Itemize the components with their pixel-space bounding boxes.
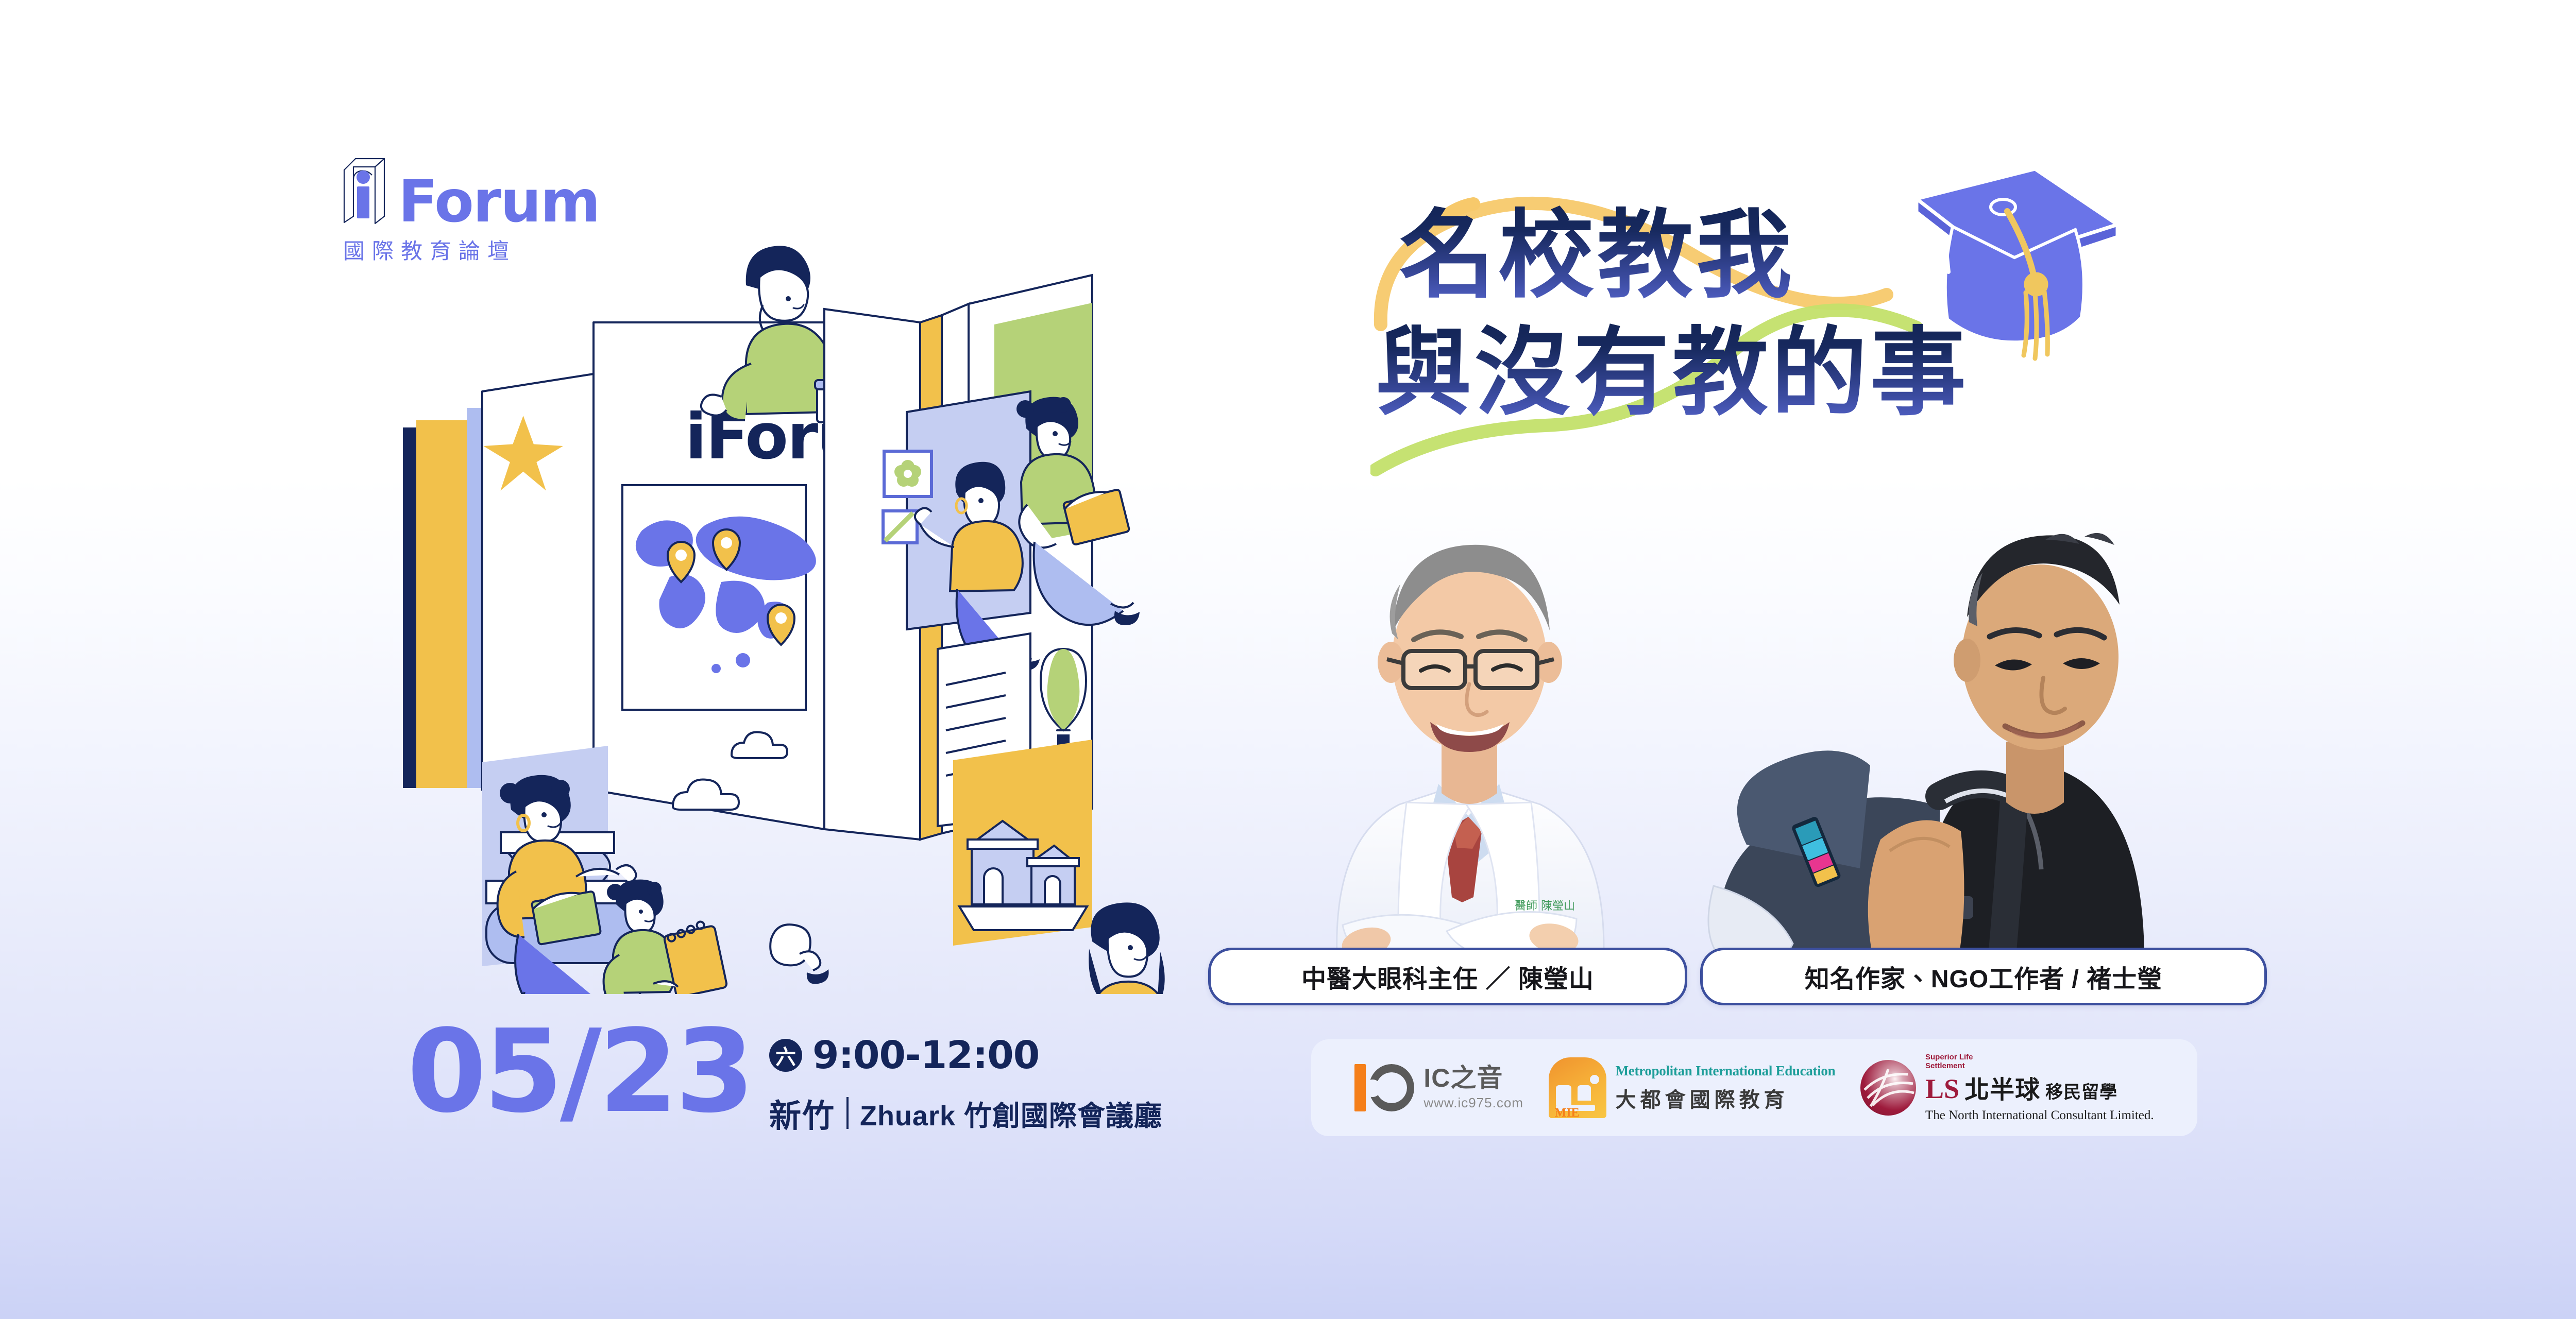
sls-name-zh2: 移民留學 [2045, 1078, 2117, 1103]
hero-title-line-2: 與沒有教的事 [1376, 295, 1969, 434]
speaker-tag-1-text: 中醫大眼科主任 ／ 陳瑩山 [1301, 958, 1594, 995]
sponsor-mie[interactable]: MIE Metropolitan International Education… [1549, 1057, 1836, 1118]
speaker-tag-2-text: 知名作家、NGO工作者 / 褚士瑩 [1805, 958, 2162, 995]
mie-logo-icon: MIE [1549, 1057, 1606, 1118]
open-book-illustration: .ln { fill:none; stroke:#14255a; stroke-… [361, 170, 1267, 994]
event-date: 05/23 [407, 1025, 752, 1119]
poster-canvas: Forum 國際教育論壇 .ln { fill:none; stroke:#14… [0, 0, 2576, 1319]
sponsor-bar: IC之音 www.ic975.com MIE Metropolitan Inte… [1311, 1039, 2197, 1136]
mie-name-en: Metropolitan International Education [1616, 1063, 1836, 1079]
sponsor-sls[interactable]: Superior Life Settlement LS 北半球 移民留學 The… [1860, 1053, 2154, 1123]
event-datetime-block: 05/23 六 9:00-12:00 新竹 Zhuark 竹創國際會議廳 [407, 1025, 1162, 1136]
speaker-tag-1: 中醫大眼科主任 ／ 陳瑩山 [1208, 948, 1687, 1005]
event-venue-row: 新竹 Zhuark 竹創國際會議廳 [769, 1090, 1162, 1136]
sponsor-ic975[interactable]: IC之音 www.ic975.com [1354, 1064, 1523, 1111]
speaker-photo-1: 醫師 陳瑩山 [1236, 489, 1685, 968]
sls-name-zh: 北半球 [1964, 1069, 2040, 1105]
ic975-url: www.ic975.com [1423, 1095, 1523, 1111]
sls-name-en: The North International Consultant Limit… [1925, 1108, 2154, 1123]
mie-text: Metropolitan International Education 大都會… [1616, 1063, 1836, 1113]
event-venue: Zhuark 竹創國際會議廳 [860, 1093, 1162, 1134]
sls-globe-icon [1860, 1060, 1916, 1116]
svg-text:醫師 陳瑩山: 醫師 陳瑩山 [1515, 900, 1575, 913]
mie-name-zh: 大都會國際教育 [1616, 1083, 1836, 1113]
ic975-text: IC之音 www.ic975.com [1423, 1065, 1523, 1111]
weekday-badge: 六 [769, 1039, 802, 1072]
sls-abbr: LS [1925, 1073, 1959, 1105]
mie-abbr: MIE [1555, 1106, 1580, 1120]
venue-divider [846, 1097, 849, 1129]
sls-tagline: Superior Life Settlement [1925, 1053, 1992, 1070]
speaker-tag-2: 知名作家、NGO工作者 / 褚士瑩 [1700, 948, 2267, 1005]
ic975-logo-icon [1354, 1064, 1414, 1111]
sls-text: Superior Life Settlement LS 北半球 移民留學 The… [1925, 1053, 2154, 1123]
ic975-name: IC之音 [1423, 1065, 1523, 1091]
event-time: 9:00-12:00 [812, 1033, 1039, 1077]
event-city: 新竹 [769, 1090, 835, 1136]
hero-title-artwork: 名校教我 與沒有教的事 [1370, 155, 2246, 484]
event-time-row: 六 9:00-12:00 [769, 1033, 1162, 1077]
speaker-photo-2 [1685, 484, 2179, 968]
